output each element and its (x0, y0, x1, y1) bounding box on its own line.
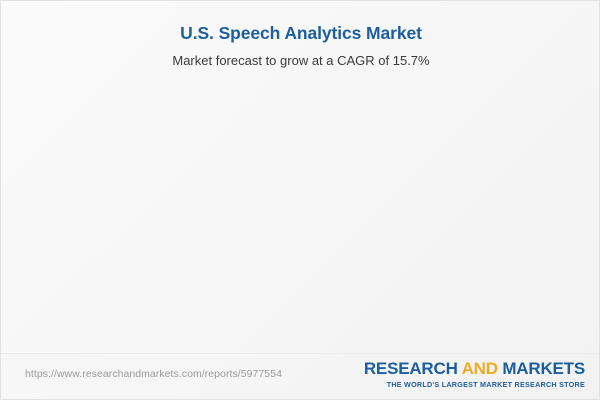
brand-name: RESEARCH AND MARKETS (364, 360, 585, 378)
brand-word-markets: MARKETS (502, 359, 585, 378)
brand-word-research: RESEARCH (364, 359, 458, 378)
footer: https://www.researchandmarkets.com/repor… (1, 354, 600, 399)
source-url-link[interactable]: https://www.researchandmarkets.com/repor… (25, 368, 282, 380)
brand-tagline: THE WORLD'S LARGEST MARKET RESEARCH STOR… (364, 380, 585, 389)
chart-plot-area: USD 2.4 Billion 2024 USD 5.81 Billion (1, 1, 600, 346)
market-forecast-infographic: U.S. Speech Analytics Market Market fore… (0, 0, 600, 400)
brand-word-and: AND (462, 359, 498, 378)
brand-logo: RESEARCH AND MARKETS THE WORLD'S LARGEST… (364, 360, 585, 389)
